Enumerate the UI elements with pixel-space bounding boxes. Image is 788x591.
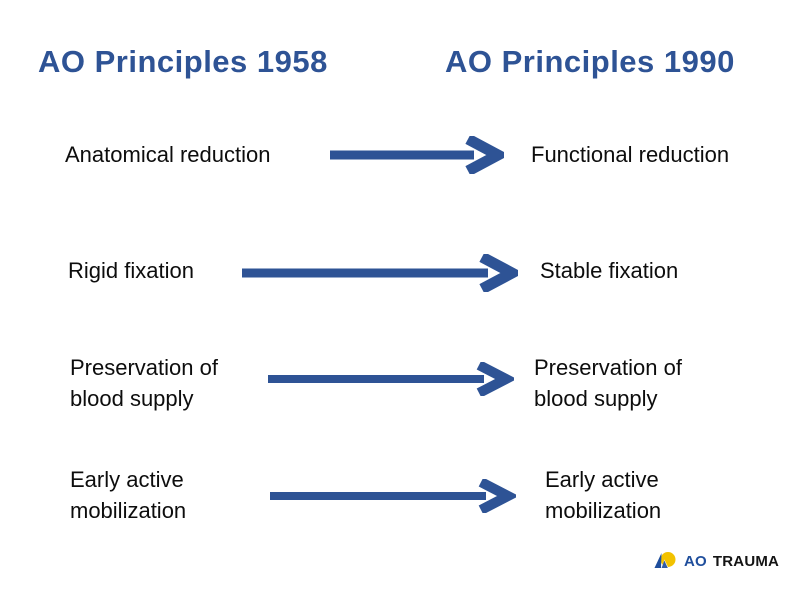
principle-1990-item-2: Stable fixation: [540, 255, 678, 286]
right-arrow-icon: [268, 479, 516, 513]
principle-1958-item-1: Anatomical reduction: [65, 139, 270, 170]
logo-text-trauma: TRAUMA: [713, 554, 779, 569]
aotrauma-logo: AOTRAUMA: [652, 550, 779, 572]
logo-text-ao: AO: [684, 554, 707, 569]
heading-right-column: AO Principles 1990: [445, 46, 735, 77]
principle-1990-item-4: Early active mobilization: [545, 464, 661, 526]
slide-canvas: AO Principles 1958 AO Principles 1990 An…: [0, 0, 788, 591]
heading-left-column: AO Principles 1958: [38, 46, 328, 77]
right-arrow-icon: [266, 362, 514, 396]
aotrauma-logo-icon: [652, 550, 678, 572]
principle-1958-item-3: Preservation of blood supply: [70, 352, 218, 414]
principle-1990-item-1: Functional reduction: [531, 139, 729, 170]
principle-1990-item-3: Preservation of blood supply: [534, 352, 682, 414]
principle-1958-item-2: Rigid fixation: [68, 255, 194, 286]
right-arrow-icon: [328, 136, 504, 174]
right-arrow-icon: [240, 254, 518, 292]
principle-1958-item-4: Early active mobilization: [70, 464, 186, 526]
